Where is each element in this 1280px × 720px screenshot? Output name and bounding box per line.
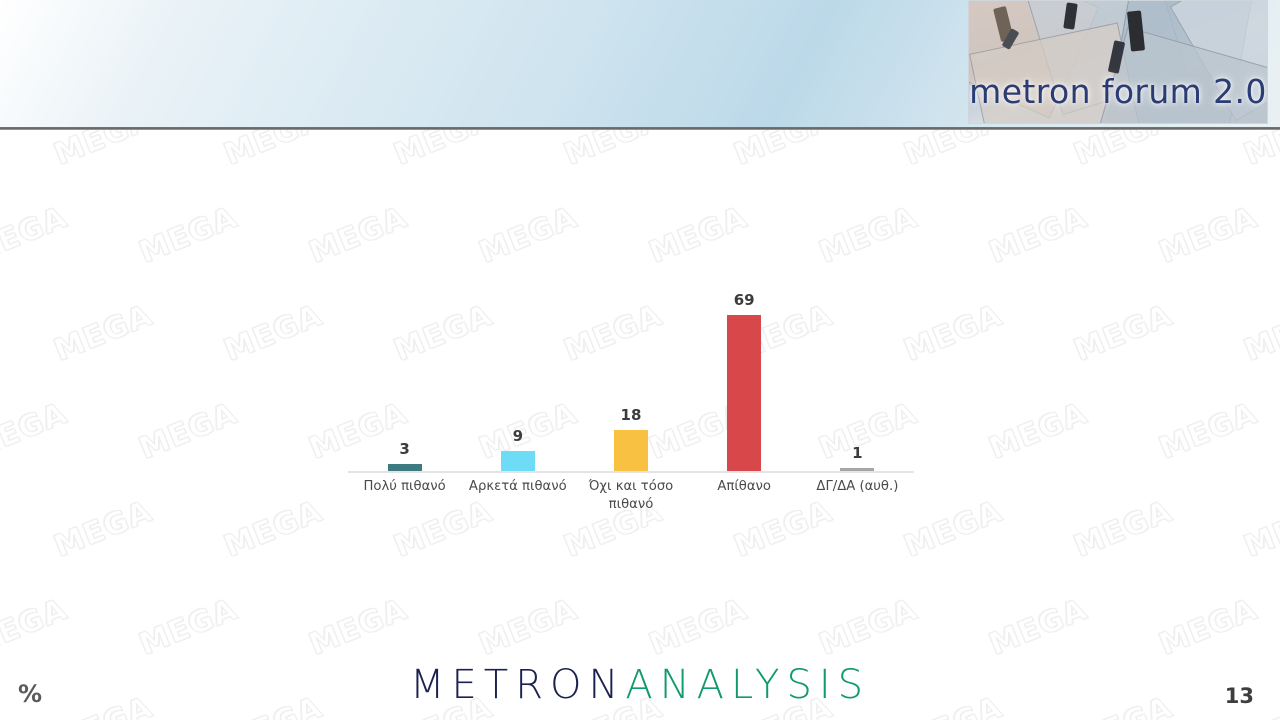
watermark-row: MEGAMEGAMEGAMEGAMEGAMEGAMEGAMEGAMEGAMEGA [0,566,1280,664]
chart-category-label: Πολύ πιθανό [348,478,461,496]
chart-bar-value-label: 9 [513,427,523,445]
watermark-text: MEGA [888,244,1082,399]
brand-analysis: ANALYSIS [625,662,870,708]
chart-category-label: ΔΓ/ΔΑ (αυθ.) [801,478,914,496]
watermark-text: MEGA [1228,244,1280,399]
watermark-text: MEGA [38,440,232,595]
metron-forum-logo-text: metron forum 2.0 [969,72,1267,111]
bar-chart: 3918691 Πολύ πιθανόΑρκετά πιθανόΌχι και … [348,290,914,526]
chart-bar-value-label: 1 [852,444,862,462]
watermark-text: MEGA [633,146,827,301]
watermark-text: MEGA [1228,440,1280,595]
watermark-text: MEGA [1058,244,1252,399]
chart-bar-value-label: 18 [621,406,642,424]
watermark-text: MEGA [463,146,657,301]
chart-bar-slot: 9 [461,290,574,471]
chart-bar-slot: 18 [574,290,687,471]
chart-category-label: Απίθανο [688,478,801,496]
chart-bar-value-label: 69 [734,291,755,309]
chart-bar[interactable] [501,451,535,471]
percent-unit-label: % [18,680,42,708]
watermark-row: MEGAMEGAMEGAMEGAMEGAMEGAMEGAMEGAMEGAMEGA [0,174,1280,272]
page-number: 13 [1225,684,1254,708]
metron-analysis-logo: METRONANALYSIS [0,662,1280,708]
watermark-text: MEGA [123,342,317,497]
header-divider-rule [0,127,1280,130]
slide-canvas: MEGAMEGAMEGAMEGAMEGAMEGAMEGAMEGAMEGAMEGA… [0,0,1280,720]
watermark-text: MEGA [803,146,997,301]
chart-category-label: Όχι και τόσο πιθανό [574,478,687,514]
chart-plot-area: 3918691 [348,290,914,472]
watermark-text: MEGA [888,440,1082,595]
watermark-text: MEGA [973,146,1167,301]
chart-bar-slot: 3 [348,290,461,471]
watermark-text: MEGA [0,440,62,595]
watermark-text: MEGA [0,342,147,497]
chart-bar-slot: 1 [801,290,914,471]
watermark-text: MEGA [1143,342,1280,497]
chart-bar[interactable] [614,430,648,471]
chart-x-axis-line [348,471,914,473]
watermark-text: MEGA [0,146,147,301]
watermark-text: MEGA [0,244,62,399]
chart-category-label: Αρκετά πιθανό [461,478,574,496]
metron-forum-logo: metron forum 2.0 [968,0,1268,124]
watermark-text: MEGA [38,244,232,399]
watermark-text: MEGA [293,146,487,301]
watermark-text: MEGA [1143,146,1280,301]
chart-bar-slot: 69 [688,290,801,471]
watermark-text: MEGA [973,342,1167,497]
watermark-text: MEGA [1058,440,1252,595]
chart-bar-value-label: 3 [399,440,409,458]
chart-bar[interactable] [727,315,761,471]
chart-bar[interactable] [388,464,422,471]
watermark-text: MEGA [123,146,317,301]
brand-metron: METRON [410,662,625,708]
